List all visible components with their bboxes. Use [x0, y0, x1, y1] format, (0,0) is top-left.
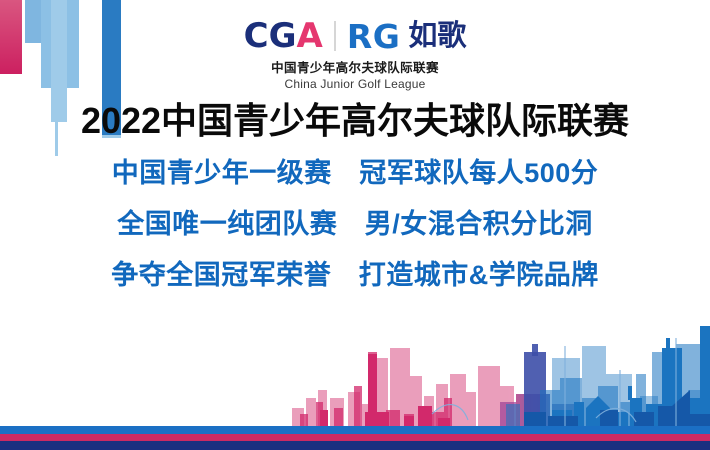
page-title: 2022中国青少年高尔夫球队际联赛: [0, 92, 710, 144]
city-skyline-illustration: [0, 286, 710, 426]
footer-stripe-navy: [0, 441, 710, 450]
copy-line-1: 中国青少年一级赛 冠军球队每人500分: [0, 160, 710, 187]
logo-lockup: CGA RG 如歌 中国青少年高尔夫球队际联赛 China Junior Gol…: [0, 18, 710, 91]
logo-subtitle-cn: 中国青少年高尔夫球队际联赛: [0, 57, 710, 76]
footer-stripes: [0, 426, 710, 450]
footer-stripe-pink: [0, 434, 710, 441]
poster-canvas: CGA RG 如歌 中国青少年高尔夫球队际联赛 China Junior Gol…: [0, 0, 710, 450]
footer-stripe-blue: [0, 426, 710, 434]
cga-wordmark: CGA: [244, 19, 323, 53]
copy-line-3: 争夺全国冠军荣誉 打造城市&学院品牌: [0, 262, 710, 289]
rg-wordmark: RG: [347, 20, 401, 53]
logo-subtitle-en: China Junior Golf League: [0, 77, 710, 91]
logo-wordmark-row: CGA RG 如歌: [244, 18, 467, 54]
cga-wordmark-a: A: [297, 16, 323, 56]
cga-wordmark-cg: CG: [244, 16, 297, 56]
logo-divider: [334, 21, 336, 51]
highlight-copy-block: 中国青少年一级赛 冠军球队每人500分 全国唯一纯团队赛 男/女混合积分比洞 争…: [0, 160, 710, 289]
rugo-wordmark: 如歌: [408, 22, 466, 51]
copy-line-2: 全国唯一纯团队赛 男/女混合积分比洞: [0, 211, 710, 238]
skyline-svg: [0, 286, 710, 426]
